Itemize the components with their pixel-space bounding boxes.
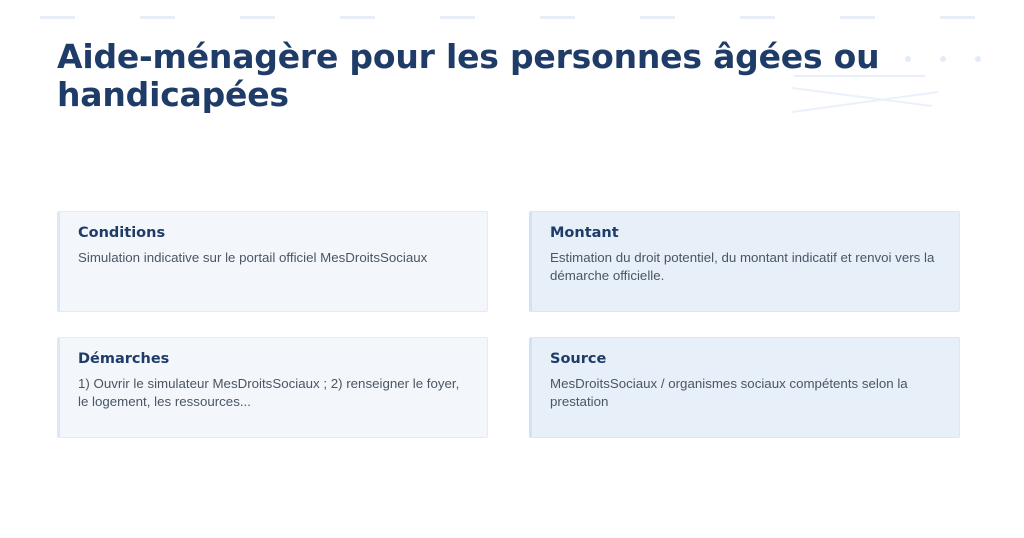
page-title: Aide-ménagère pour les personnes âgées o… [57,38,937,115]
card-title: Démarches [78,352,471,368]
card-body: Simulation indicative sur le portail off… [78,249,471,267]
card-body: MesDroitsSociaux / organismes sociaux co… [550,375,943,412]
card-title: Source [550,352,943,368]
card-montant: Montant Estimation du droit potentiel, d… [529,211,960,312]
card-demarches: Démarches 1) Ouvrir le simulateur MesDro… [57,337,488,438]
card-source: Source MesDroitsSociaux / organismes soc… [529,337,960,438]
card-title: Montant [550,226,943,242]
dot-icon [975,56,981,62]
card-conditions: Conditions Simulation indicative sur le … [57,211,488,312]
card-body: Estimation du droit potentiel, du montan… [550,249,943,286]
slide-canvas: Aide-ménagère pour les personnes âgées o… [0,0,1024,538]
card-grid: Conditions Simulation indicative sur le … [57,211,965,438]
card-body: 1) Ouvrir le simulateur MesDroitsSociaux… [78,375,471,412]
dashed-rule-decoration [40,16,984,19]
dot-icon [940,56,946,62]
card-title: Conditions [78,226,471,242]
